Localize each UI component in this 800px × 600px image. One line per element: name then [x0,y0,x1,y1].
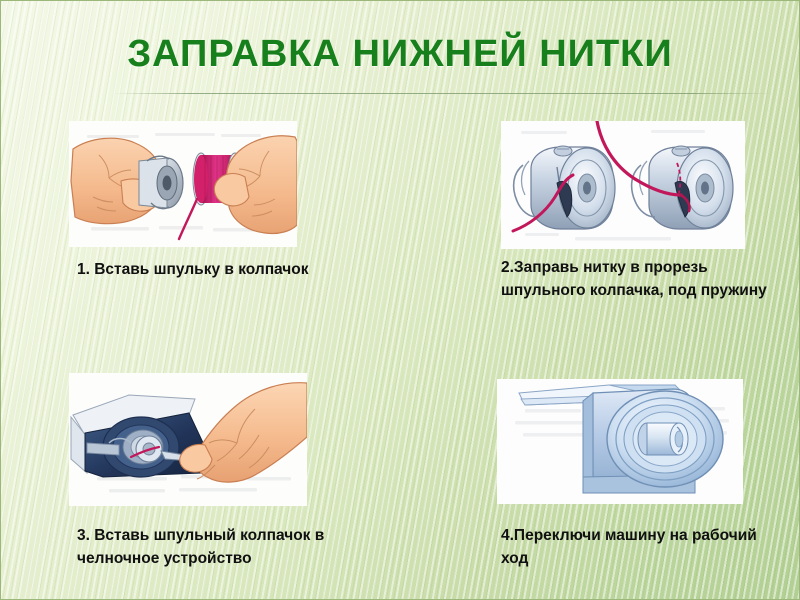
step-2-image [501,121,745,249]
step-1-caption: 1. Вставь шпульку в колпачок [77,259,327,282]
step-4-image [497,379,743,504]
slide-canvas: ЗАПРАВКА НИЖНЕЙ НИТКИ [0,0,800,600]
hands-inserting-bobbin-into-bobbin-case-illustration [69,121,297,247]
step-3-image [69,373,307,506]
step-1-image [69,121,297,247]
title-divider [113,93,773,94]
step-3-caption: 3. Вставь шпульный колпачок в челночное … [77,525,377,571]
sewing-machine-handwheel-illustration [497,379,743,504]
step-4-caption: 4.Переключи машину на рабочий ход [501,525,781,571]
hand-inserting-bobbin-case-into-shuttle-illustration [69,373,307,506]
step-2-caption: 2.Заправь нитку в прорезь шпульного колп… [501,257,773,303]
bobbin-case-threading-slot-illustration [501,121,745,249]
page-title: ЗАПРАВКА НИЖНЕЙ НИТКИ [1,33,799,76]
